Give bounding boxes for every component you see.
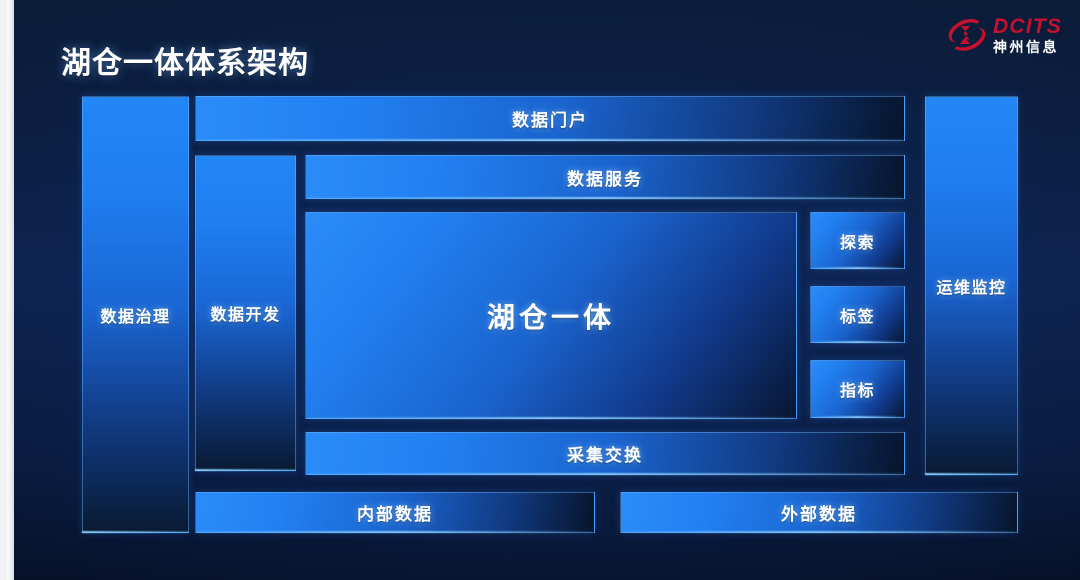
logo-brand-en: DCITS [993, 16, 1062, 37]
page-title: 湖仓一体体系架构 [61, 38, 309, 82]
block-label: 探索 [840, 229, 875, 253]
block-data-development[interactable]: 数据开发 [195, 155, 296, 471]
block-explore[interactable]: 探索 [810, 212, 905, 269]
page-edge-strip [7, 0, 14, 580]
block-label: 数据治理 [100, 303, 170, 327]
slide-canvas: 湖仓一体体系架构 DCITS 神州信息 数据治理 数据开发 数据门户 数据服务 … [7, 0, 1080, 580]
block-internal-data[interactable]: 内部数据 [195, 492, 595, 533]
block-label: 数据服务 [567, 165, 643, 190]
block-metrics[interactable]: 指标 [810, 360, 905, 418]
block-data-service[interactable]: 数据服务 [305, 155, 905, 199]
block-label: 内部数据 [357, 500, 433, 525]
block-label: 指标 [840, 377, 875, 401]
block-label: 数据开发 [210, 301, 280, 325]
logo-brand-cn: 神州信息 [993, 40, 1062, 54]
block-label: 采集交换 [567, 441, 643, 466]
brand-logo: DCITS 神州信息 [946, 10, 1062, 60]
block-collection-exchange[interactable]: 采集交换 [305, 432, 905, 475]
block-label: 外部数据 [781, 500, 857, 525]
block-lakehouse-core[interactable]: 湖仓一体 [305, 212, 797, 419]
block-label: 湖仓一体 [487, 296, 615, 336]
block-label: 运维监控 [936, 274, 1006, 298]
block-label: 数据门户 [512, 106, 588, 131]
block-data-governance[interactable]: 数据治理 [82, 96, 189, 533]
block-tags[interactable]: 标签 [810, 286, 905, 343]
block-ops-monitoring[interactable]: 运维监控 [925, 96, 1018, 475]
dcits-swirl-icon [946, 15, 988, 55]
block-external-data[interactable]: 外部数据 [620, 492, 1018, 533]
logo-wordmark: DCITS 神州信息 [993, 16, 1062, 54]
block-label: 标签 [840, 303, 875, 327]
block-data-portal[interactable]: 数据门户 [195, 96, 905, 141]
